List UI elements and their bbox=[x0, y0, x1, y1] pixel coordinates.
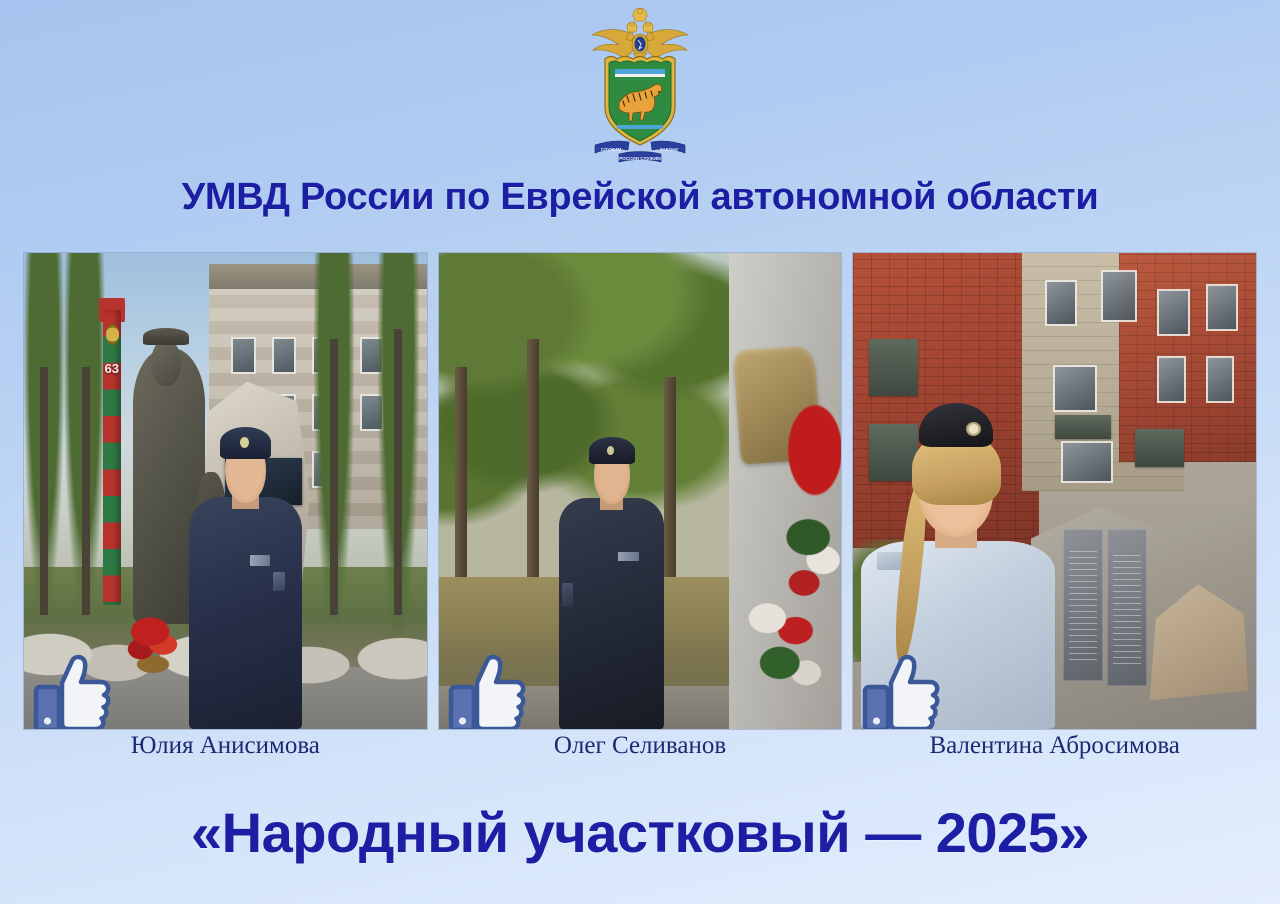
window bbox=[1103, 272, 1135, 320]
window bbox=[233, 339, 253, 372]
window bbox=[274, 339, 294, 372]
tree-trunk bbox=[455, 367, 467, 605]
tree-trunk bbox=[82, 367, 90, 615]
doorway bbox=[1135, 429, 1183, 467]
window bbox=[1208, 286, 1236, 329]
memorial-slab bbox=[1107, 529, 1147, 686]
police-officer-figure bbox=[559, 424, 664, 729]
window bbox=[1159, 358, 1183, 401]
svg-text:СЛУЖИМ: СЛУЖИМ bbox=[601, 147, 622, 152]
photo-card-1[interactable]: 63 bbox=[24, 253, 427, 729]
window bbox=[1208, 358, 1232, 401]
flower-basket bbox=[125, 605, 181, 681]
window bbox=[1047, 282, 1075, 325]
mvd-emblem-icon: СЛУЖИМ ЗАКОНУ РОССИИ СЛУЖИМ bbox=[575, 7, 705, 165]
tree-trunk bbox=[664, 377, 676, 605]
awning bbox=[1055, 415, 1111, 439]
name-captions: Юлия Анисимова Олег Селиванов Валентина … bbox=[24, 729, 1256, 767]
red-flower-wreath bbox=[781, 386, 841, 614]
cap-badge-icon bbox=[966, 422, 981, 436]
window bbox=[1055, 367, 1095, 410]
officer-name-2: Олег Селиванов bbox=[439, 729, 842, 767]
tree-trunk bbox=[527, 339, 539, 606]
svg-text:ЗАКОНУ: ЗАКОНУ bbox=[660, 147, 679, 152]
officer-name-1: Юлия Анисимова bbox=[24, 729, 427, 767]
garrison-cap bbox=[919, 403, 992, 446]
flower-bouquet bbox=[741, 581, 830, 705]
border-post-number: 63 bbox=[103, 360, 122, 384]
statue-cap bbox=[143, 328, 189, 345]
name-badge bbox=[618, 552, 639, 561]
photo-card-3[interactable] bbox=[853, 253, 1256, 729]
uniform-jacket bbox=[559, 498, 664, 730]
page-title: УМВД России по Еврейской автономной обла… bbox=[0, 176, 1280, 219]
statue-head bbox=[151, 339, 181, 387]
tree-trunk bbox=[394, 329, 402, 615]
photo-card-2[interactable] bbox=[439, 253, 842, 729]
tree-trunk bbox=[330, 339, 338, 615]
window bbox=[1063, 443, 1111, 481]
window bbox=[1159, 291, 1187, 334]
svg-text:РОССИИ СЛУЖИМ: РОССИИ СЛУЖИМ bbox=[619, 156, 661, 161]
police-officer-figure bbox=[189, 415, 302, 729]
memorial-slab bbox=[1063, 529, 1103, 681]
cap-badge-icon bbox=[240, 437, 249, 448]
photo-gallery: 63 bbox=[24, 253, 1256, 729]
thumbs-up-icon[interactable] bbox=[32, 653, 112, 729]
officer-name-3: Валентина Абросимова bbox=[853, 729, 1256, 767]
border-post bbox=[103, 310, 122, 605]
name-badge bbox=[250, 555, 270, 566]
uniform-jacket bbox=[189, 497, 302, 729]
shoulder-patch bbox=[273, 572, 285, 591]
tree-trunk bbox=[40, 367, 48, 615]
emblem-container: СЛУЖИМ ЗАКОНУ РОССИИ СЛУЖИМ bbox=[0, 6, 1280, 166]
shoulder-patch bbox=[562, 583, 574, 607]
thumbs-up-icon[interactable] bbox=[447, 653, 527, 729]
cap-badge-icon bbox=[607, 446, 614, 455]
thumbs-up-icon[interactable] bbox=[861, 653, 941, 729]
campaign-title: «Народный участковый — 2025» bbox=[0, 800, 1280, 865]
